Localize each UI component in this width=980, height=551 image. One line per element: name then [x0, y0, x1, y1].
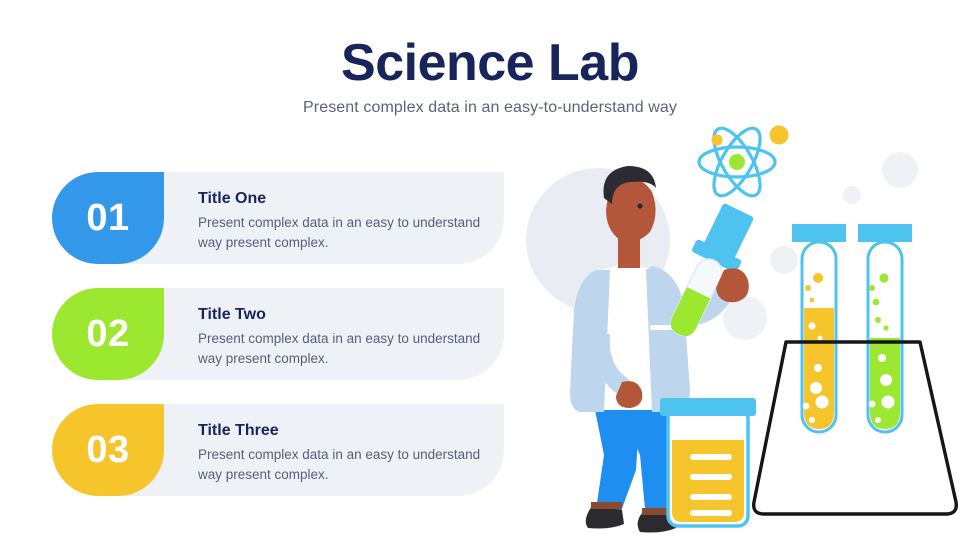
- slide-canvas: Science Lab Present complex data in an e…: [0, 0, 980, 551]
- list-item[interactable]: 02 Title Two Present complex data in an …: [52, 288, 504, 380]
- atom-icon: [699, 122, 775, 203]
- card-text-block: Title Two Present complex data in an eas…: [198, 306, 488, 368]
- card-title: Title Two: [198, 306, 488, 324]
- card-number-badge: 03: [52, 404, 164, 496]
- card-number-badge: 01: [52, 172, 164, 264]
- card-title: Title One: [198, 190, 488, 208]
- card-list: 01 Title One Present complex data in an …: [52, 172, 504, 520]
- card-title: Title Three: [198, 422, 488, 440]
- card-description: Present complex data in an easy to under…: [198, 445, 488, 484]
- header: Science Lab Present complex data in an e…: [0, 36, 980, 117]
- card-number: 03: [86, 429, 129, 472]
- card-number: 01: [86, 197, 129, 240]
- card-description: Present complex data in an easy to under…: [198, 213, 488, 252]
- card-number-badge: 02: [52, 288, 164, 380]
- card-text-block: Title One Present complex data in an eas…: [198, 190, 488, 252]
- card-description: Present complex data in an easy to under…: [198, 329, 488, 368]
- card-number: 02: [86, 313, 129, 356]
- card-text-block: Title Three Present complex data in an e…: [198, 422, 488, 484]
- page-title: Science Lab: [0, 36, 980, 91]
- illustration: [500, 110, 980, 551]
- yellow-dot: [770, 126, 789, 145]
- list-item[interactable]: 01 Title One Present complex data in an …: [52, 172, 504, 264]
- beaker-yellow: [660, 398, 756, 526]
- list-item[interactable]: 03 Title Three Present complex data in a…: [52, 404, 504, 496]
